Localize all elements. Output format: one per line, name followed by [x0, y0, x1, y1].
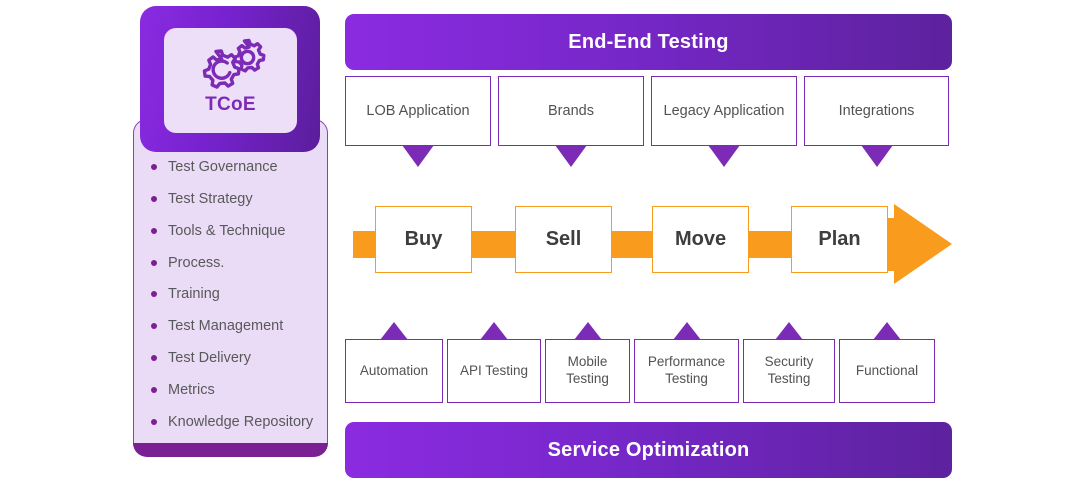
application-box-brands[interactable]: Brands — [498, 76, 644, 146]
application-box-legacy-application[interactable]: Legacy Application — [651, 76, 797, 146]
list-item: Metrics — [134, 381, 327, 400]
panel-base-bar — [133, 443, 328, 457]
list-item: Knowledge Repository — [134, 413, 327, 432]
step-label: Buy — [405, 228, 443, 251]
arrow-down-icon — [708, 145, 740, 167]
list-item-label: Knowledge Repository — [168, 414, 313, 430]
box-label: LOB Application — [366, 102, 469, 120]
box-label: Integrations — [839, 102, 915, 120]
step-label: Plan — [818, 228, 860, 251]
arrow-down-icon — [402, 145, 434, 167]
tcoe-capabilities-panel: Test Governance Test Strategy Tools & Te… — [133, 119, 328, 456]
process-step-move[interactable]: Move — [652, 206, 749, 273]
tcoe-card: TCoE — [140, 6, 320, 152]
list-item-label: Test Management — [168, 318, 283, 334]
process-step-plan[interactable]: Plan — [791, 206, 888, 273]
step-label: Sell — [546, 228, 582, 251]
testing-type-security-testing[interactable]: Security Testing — [743, 339, 835, 403]
list-item: Test Delivery — [134, 349, 327, 368]
box-label: Automation — [360, 363, 428, 380]
list-item: Test Management — [134, 317, 327, 336]
arrow-up-icon — [775, 322, 803, 340]
list-item: Training — [134, 285, 327, 304]
box-label: Performance Testing — [635, 354, 738, 388]
application-boxes-row: LOB Application Brands Legacy Applicatio… — [345, 76, 952, 146]
banner-title: Service Optimization — [548, 439, 750, 462]
list-item: Test Strategy — [134, 190, 327, 209]
arrow-down-icon — [861, 145, 893, 167]
box-label: API Testing — [460, 363, 528, 380]
diagram-canvas: Test Governance Test Strategy Tools & Te… — [0, 0, 1088, 481]
list-item: Test Governance — [134, 158, 327, 177]
box-label: Security Testing — [744, 354, 834, 388]
arrow-up-icon — [480, 322, 508, 340]
arrow-up-icon — [873, 322, 901, 340]
process-flow-band: Buy Sell Move Plan — [345, 198, 952, 290]
box-label: Brands — [548, 102, 594, 120]
box-label: Functional — [856, 363, 918, 380]
list-item-label: Metrics — [168, 382, 215, 398]
application-box-integrations[interactable]: Integrations — [804, 76, 949, 146]
list-item-label: Process. — [168, 255, 224, 271]
application-box-lob-application[interactable]: LOB Application — [345, 76, 491, 146]
process-step-buy[interactable]: Buy — [375, 206, 472, 273]
list-item: Tools & Technique — [134, 222, 327, 241]
end-end-testing-banner: End-End Testing — [345, 14, 952, 70]
list-item-label: Test Delivery — [168, 350, 251, 366]
testing-types-row: Automation API Testing Mobile Testing Pe… — [345, 339, 952, 403]
box-label: Legacy Application — [664, 102, 785, 120]
list-item-label: Tools & Technique — [168, 223, 285, 239]
tcoe-capability-list: Test Governance Test Strategy Tools & Te… — [134, 120, 327, 432]
arrow-down-icon — [555, 145, 587, 167]
tcoe-label: TCoE — [205, 94, 256, 116]
list-item-label: Test Governance — [168, 159, 278, 175]
box-label: Mobile Testing — [546, 354, 629, 388]
arrow-up-icon — [380, 322, 408, 340]
step-label: Move — [675, 228, 726, 251]
testing-type-automation[interactable]: Automation — [345, 339, 443, 403]
process-step-sell[interactable]: Sell — [515, 206, 612, 273]
testing-type-mobile-testing[interactable]: Mobile Testing — [545, 339, 630, 403]
banner-title: End-End Testing — [568, 31, 728, 54]
list-item-label: Training — [168, 286, 220, 302]
process-arrow-head-icon — [894, 204, 952, 284]
testing-type-performance-testing[interactable]: Performance Testing — [634, 339, 739, 403]
arrow-up-icon — [574, 322, 602, 340]
service-optimization-banner: Service Optimization — [345, 422, 952, 478]
testing-type-api-testing[interactable]: API Testing — [447, 339, 541, 403]
arrow-up-icon — [673, 322, 701, 340]
list-item-label: Test Strategy — [168, 191, 253, 207]
testing-type-functional[interactable]: Functional — [839, 339, 935, 403]
tcoe-card-inner: TCoE — [164, 28, 297, 133]
list-item: Process. — [134, 254, 327, 273]
gears-icon — [194, 34, 268, 96]
